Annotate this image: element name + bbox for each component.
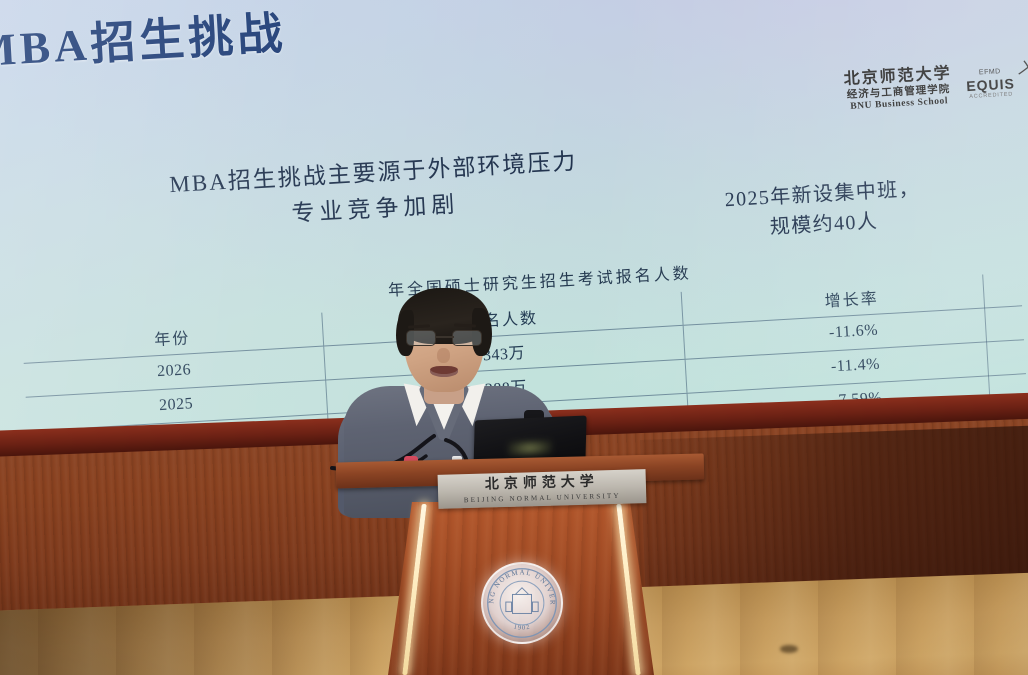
lectern: 北京师范大学 BEIJING NORMAL UNIVERSITY BEIJING…: [330, 452, 710, 675]
business-school-logo-text: 北京师范大学 经济与工商管理学院 BNU Business School: [843, 64, 953, 114]
slide-note-line-1: 2025年新设集中班，: [724, 178, 920, 211]
speaker-mouth: [430, 366, 458, 377]
slide-title: MBA招生挑战: [0, 0, 288, 79]
business-school-logo: 北京师范大学 经济与工商管理学院 BNU Business School EFM…: [843, 60, 1016, 114]
slide-side-note: 2025年新设集中班， 规模约40人: [697, 172, 950, 246]
glasses-lens-right: [452, 330, 482, 346]
lectern-nameplate: 北京师范大学 BEIJING NORMAL UNIVERSITY: [438, 469, 647, 509]
floor-mark: [780, 645, 798, 653]
slide-note-line-2: 规模约40人: [769, 210, 878, 238]
university-seal-icon: BEIJING NORMAL UNIVERSITY 1902: [483, 562, 561, 644]
speaker-nose: [437, 348, 450, 363]
lectern-nameplate-cn: 北京师范大学: [485, 475, 599, 492]
presentation-photo: MBA招生挑战 北京师范大学 经济与工商管理学院 BNU Business Sc…: [0, 0, 1028, 675]
university-seal: BEIJING NORMAL UNIVERSITY 1902: [481, 562, 563, 644]
equis-swoosh-icon: [1017, 57, 1028, 76]
glasses-lens-left: [406, 330, 436, 346]
slide-lead-text: MBA招生挑战主要源于外部环境压力 专业竞争加剧: [63, 138, 686, 245]
equis-accreditation-logo: EFMD EQUIS ACCREDITED: [965, 67, 1015, 100]
lectern-nameplate-en: BEIJING NORMAL UNIVERSITY: [464, 491, 621, 503]
speaker-glasses: [404, 330, 486, 348]
glasses-bridge: [436, 336, 454, 338]
